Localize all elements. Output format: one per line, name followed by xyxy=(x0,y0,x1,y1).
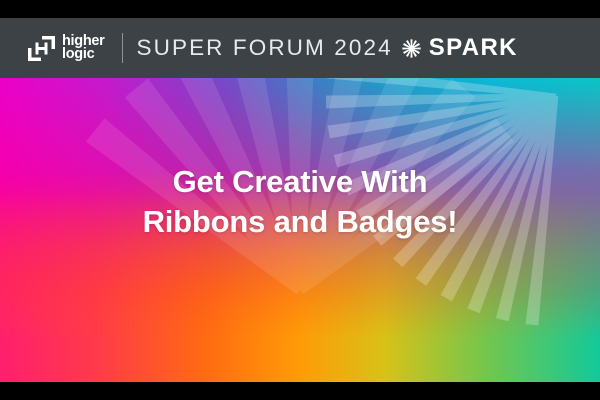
headline-line-1: Get Creative With xyxy=(0,162,600,202)
letterbox-bottom xyxy=(0,382,600,400)
brand-line-2: logic xyxy=(62,48,105,61)
letterbox-top xyxy=(0,0,600,18)
headline-line-2: Ribbons and Badges! xyxy=(0,202,600,242)
product-name-label: SPARK xyxy=(429,34,518,62)
spark-starburst-icon xyxy=(402,39,421,58)
higher-logic-bracket-h-mark xyxy=(28,36,55,61)
event-name-label: SUPER FORUM 2024 xyxy=(137,35,393,61)
event-header-band: higher logic SUPER FORUM 2024 xyxy=(0,18,600,78)
higher-logic-logo[interactable]: higher logic xyxy=(28,35,105,62)
title-card-slide: higher logic SUPER FORUM 2024 xyxy=(0,0,600,400)
higher-logic-wordmark: higher logic xyxy=(62,35,105,62)
page-title: Get Creative With Ribbons and Badges! xyxy=(0,162,600,241)
header-divider xyxy=(122,33,123,63)
